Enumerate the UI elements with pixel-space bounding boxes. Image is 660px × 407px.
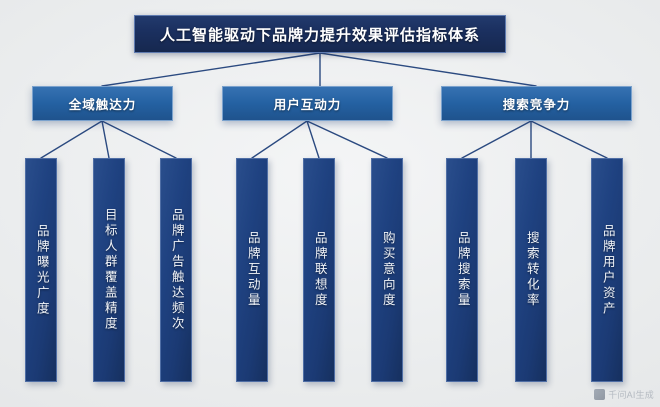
connector-title-to-branch-2 [320, 53, 536, 86]
leaf-label: 品牌搜索量 [451, 231, 473, 309]
connector-branch-0-leaf-1 [102, 121, 109, 158]
leaf-box[interactable]: 品牌广告触达频次 [160, 158, 192, 382]
branch-label-2: 搜索竞争力 [503, 94, 571, 113]
connector-title-to-branch-0 [102, 53, 320, 86]
watermark: 千问AI生成 [594, 388, 654, 401]
leaf-box[interactable]: 品牌曝光广度 [25, 158, 57, 382]
connector-branch-1-leaf-0 [252, 121, 307, 158]
branch-box-sousuo-jingzhengli[interactable]: 搜索竞争力 [441, 86, 632, 121]
leaf-box[interactable]: 品牌用户资产 [591, 158, 623, 382]
leaf-box[interactable]: 品牌搜索量 [446, 158, 478, 382]
branch-label-0: 全域触达力 [69, 94, 137, 113]
diagram-title-text: 人工智能驱动下品牌力提升效果评估指标体系 [160, 24, 480, 45]
branch-box-yonghu-hudongli[interactable]: 用户互动力 [222, 86, 393, 121]
leaf-label: 品牌互动量 [241, 231, 263, 309]
leaf-label: 品牌联想度 [308, 231, 330, 309]
leaf-box[interactable]: 目标人群覆盖精度 [93, 158, 125, 382]
connector-branch-1-leaf-2 [307, 121, 387, 158]
connector-branch-0-leaf-2 [102, 121, 176, 158]
leaf-label: 品牌用户资产 [596, 224, 618, 317]
branch-label-1: 用户互动力 [274, 94, 342, 113]
leaf-label: 品牌广告触达频次 [165, 208, 187, 332]
leaf-label: 购买意向度 [376, 231, 398, 309]
connector-branch-1-leaf-1 [307, 121, 319, 158]
diagram-title-box: 人工智能驱动下品牌力提升效果评估指标体系 [134, 15, 506, 53]
leaf-box[interactable]: 品牌联想度 [303, 158, 335, 382]
connector-branch-2-leaf-2 [531, 121, 607, 158]
connector-branch-2-leaf-0 [462, 121, 531, 158]
leaf-label: 品牌曝光广度 [30, 224, 52, 317]
diagram-canvas: 人工智能驱动下品牌力提升效果评估指标体系 全域触达力 用户互动力 搜索竞争力 品… [0, 0, 660, 407]
leaf-label: 搜索转化率 [520, 231, 542, 309]
leaf-label: 目标人群覆盖精度 [98, 208, 120, 332]
connector-branch-0-leaf-0 [41, 121, 102, 158]
branch-box-quanyu-chudali[interactable]: 全域触达力 [32, 86, 173, 121]
qianwen-logo-icon [594, 389, 605, 400]
leaf-box[interactable]: 品牌互动量 [236, 158, 268, 382]
watermark-text: 千问AI生成 [608, 388, 654, 401]
leaf-box[interactable]: 购买意向度 [371, 158, 403, 382]
leaf-box[interactable]: 搜索转化率 [515, 158, 547, 382]
